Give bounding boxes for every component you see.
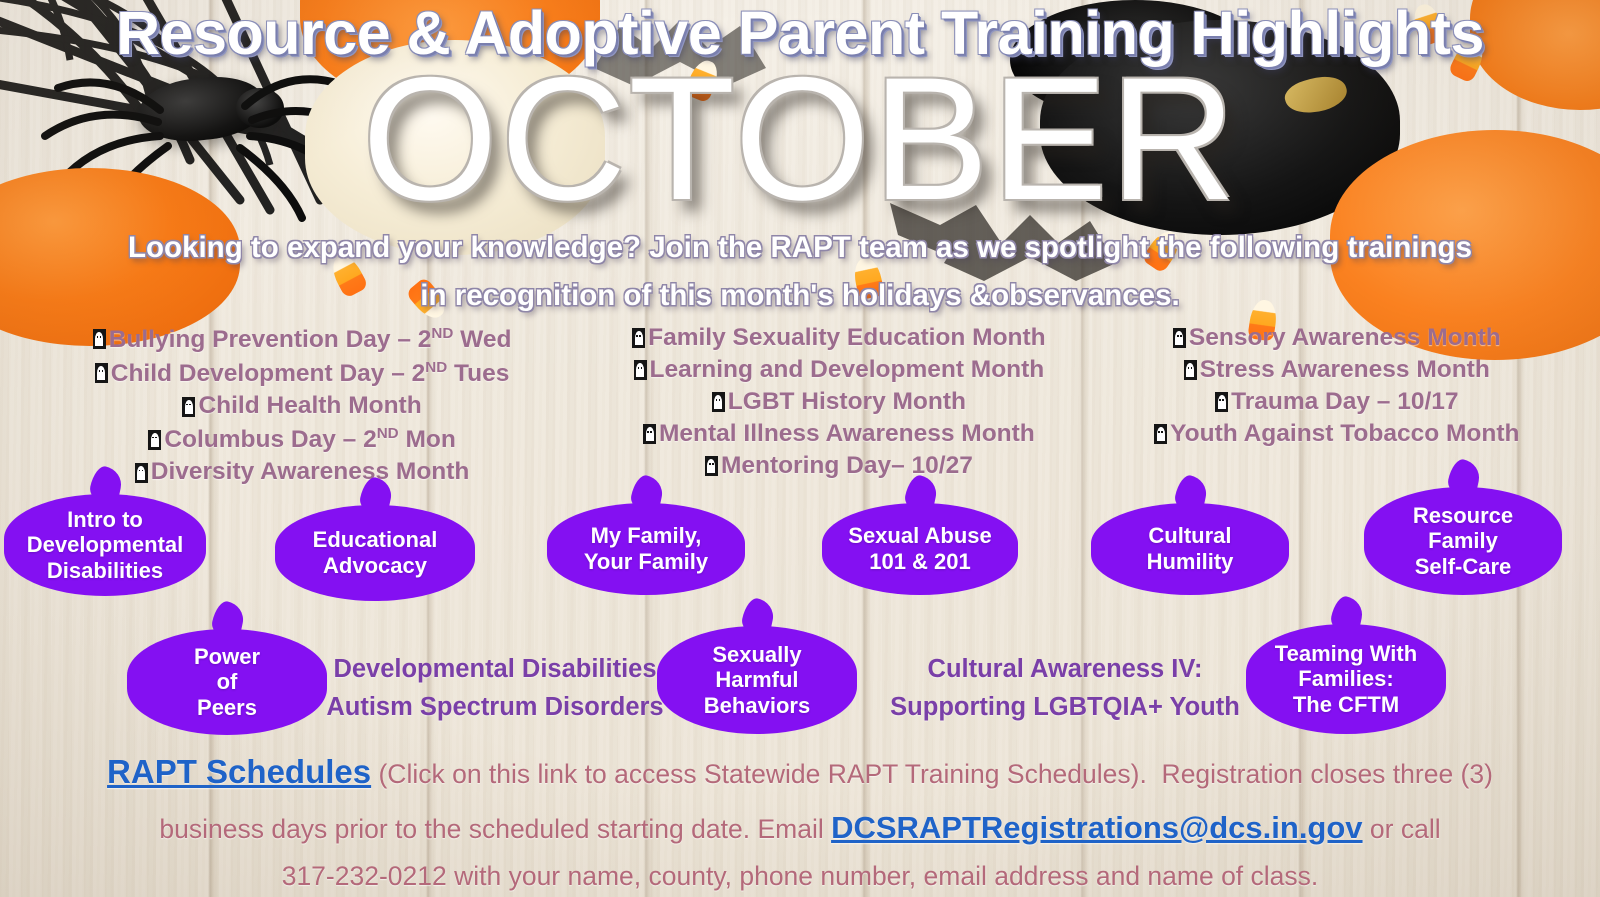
ghost-bullet-icon	[95, 363, 108, 383]
ghost-bullet-icon	[1184, 360, 1197, 380]
footer-after-link: (Click on this link to access Statewide …	[371, 759, 1493, 789]
badge-label: Sexually Harmful Behaviors	[704, 642, 810, 719]
course-text-developmental-disabilities: Developmental Disabilities Autism Spectr…	[325, 650, 665, 727]
observance-label: Sensory Awareness Month	[1189, 326, 1501, 351]
badge-label: Resource Family Self-Care	[1413, 503, 1513, 580]
ghost-bullet-icon	[148, 430, 161, 450]
ghost-bullet-icon	[643, 424, 656, 444]
observance-label: Mentoring Day– 10/27	[721, 454, 973, 479]
ghost-bullet-icon	[705, 456, 718, 476]
intro-line-2: in recognition of this month's holidays …	[420, 279, 1179, 312]
badge-label: Cultural Humility	[1147, 523, 1234, 574]
ghost-bullet-icon	[1173, 328, 1186, 348]
training-badge-educational-advocacy[interactable]: Educational Advocacy	[275, 505, 475, 601]
pumpkin-stem-icon	[740, 596, 777, 637]
ghost-bullet-icon	[135, 463, 148, 483]
poster-flyer: Resource & Adoptive Parent Training High…	[0, 0, 1600, 897]
observance-item: Columbus Day – 2ND Mon	[22, 426, 582, 453]
ghost-bullet-icon	[93, 329, 106, 349]
training-badge-teaming-with-families-the-cftm[interactable]: Teaming With Families: The CFTM	[1246, 624, 1446, 734]
observance-item: Stress Awareness Month	[1096, 358, 1578, 383]
training-badge-cultural-humility[interactable]: Cultural Humility	[1091, 503, 1289, 595]
ghost-bullet-icon	[634, 360, 647, 380]
training-badge-sexual-abuse-101-201[interactable]: Sexual Abuse 101 & 201	[822, 503, 1018, 595]
observance-label: Trauma Day – 10/17	[1231, 390, 1458, 415]
observance-label: Child Health Month	[198, 394, 421, 419]
observance-item: Child Health Month	[22, 394, 582, 419]
training-badge-resource-family-self-care[interactable]: Resource Family Self-Care	[1364, 487, 1562, 595]
footer-line2-after: or call	[1363, 814, 1441, 844]
observance-label: Child Development Day – 2ND Tues	[111, 360, 510, 387]
observance-column-3: Sensory Awareness MonthStress Awareness …	[1096, 326, 1578, 492]
footer-contact-block: RAPT Schedules (Click on this link to ac…	[8, 744, 1592, 897]
observance-label: Learning and Development Month	[650, 358, 1045, 383]
training-badge-intro-to-developmental-disabilities[interactable]: Intro to Developmental Disabilities	[4, 494, 206, 596]
pumpkin-stem-icon	[1329, 594, 1366, 635]
rapt-schedules-link[interactable]: RAPT Schedules	[107, 753, 371, 790]
observance-item: Learning and Development Month	[582, 358, 1095, 383]
observance-item: Mentoring Day– 10/27	[582, 454, 1095, 479]
registration-email-link[interactable]: DCSRAPTRegistrations@dcs.in.gov	[831, 810, 1362, 845]
observance-item: Youth Against Tobacco Month	[1096, 422, 1578, 447]
footer-line3: 317-232-0212 with your name, county, pho…	[282, 861, 1319, 891]
ghost-bullet-icon	[1215, 392, 1228, 412]
intro-line-1: Looking to expand your knowledge? Join t…	[128, 231, 1472, 264]
observance-item: Mental Illness Awareness Month	[582, 422, 1095, 447]
month-heading: OCTOBER	[0, 52, 1600, 227]
intro-paragraph: Looking to expand your knowledge? Join t…	[10, 224, 1590, 320]
badge-label: My Family, Your Family	[584, 523, 708, 574]
observance-column-2: Family Sexuality Education MonthLearning…	[582, 326, 1095, 492]
observance-label: Diversity Awareness Month	[151, 460, 470, 485]
badge-label: Power of Peers	[194, 644, 260, 721]
observance-item: LGBT History Month	[582, 390, 1095, 415]
pumpkin-stem-icon	[210, 599, 247, 640]
observance-label: Youth Against Tobacco Month	[1170, 422, 1519, 447]
observance-label: Mental Illness Awareness Month	[659, 422, 1035, 447]
ghost-bullet-icon	[712, 392, 725, 412]
ghost-bullet-icon	[1154, 424, 1167, 444]
course-text-cultural-awareness-iv: Cultural Awareness IV: Supporting LGBTQI…	[880, 650, 1250, 727]
observance-item: Trauma Day – 10/17	[1096, 390, 1578, 415]
observance-label: Columbus Day – 2ND Mon	[164, 426, 455, 453]
badge-label: Sexual Abuse 101 & 201	[848, 523, 991, 574]
footer-line2-before: business days prior to the scheduled sta…	[159, 814, 831, 844]
observance-item: Sensory Awareness Month	[1096, 326, 1578, 351]
observance-label: LGBT History Month	[728, 390, 966, 415]
observance-item: Child Development Day – 2ND Tues	[22, 360, 582, 387]
training-badge-sexually-harmful-behaviors[interactable]: Sexually Harmful Behaviors	[657, 626, 857, 734]
badge-label: Educational Advocacy	[313, 527, 438, 578]
training-badge-my-family-your-family[interactable]: My Family, Your Family	[547, 503, 745, 595]
observance-label: Bullying Prevention Day – 2ND Wed	[109, 326, 512, 353]
ghost-bullet-icon	[632, 328, 645, 348]
badge-label: Intro to Developmental Disabilities	[27, 507, 184, 584]
observance-label: Family Sexuality Education Month	[648, 326, 1046, 351]
ghost-bullet-icon	[182, 397, 195, 417]
observances-columns: Bullying Prevention Day – 2ND WedChild D…	[0, 326, 1600, 492]
observance-label: Stress Awareness Month	[1200, 358, 1490, 383]
observance-item: Family Sexuality Education Month	[582, 326, 1095, 351]
badge-label: Teaming With Families: The CFTM	[1275, 641, 1417, 718]
observance-item: Bullying Prevention Day – 2ND Wed	[22, 326, 582, 353]
training-badge-power-of-peers[interactable]: Power of Peers	[127, 629, 327, 735]
